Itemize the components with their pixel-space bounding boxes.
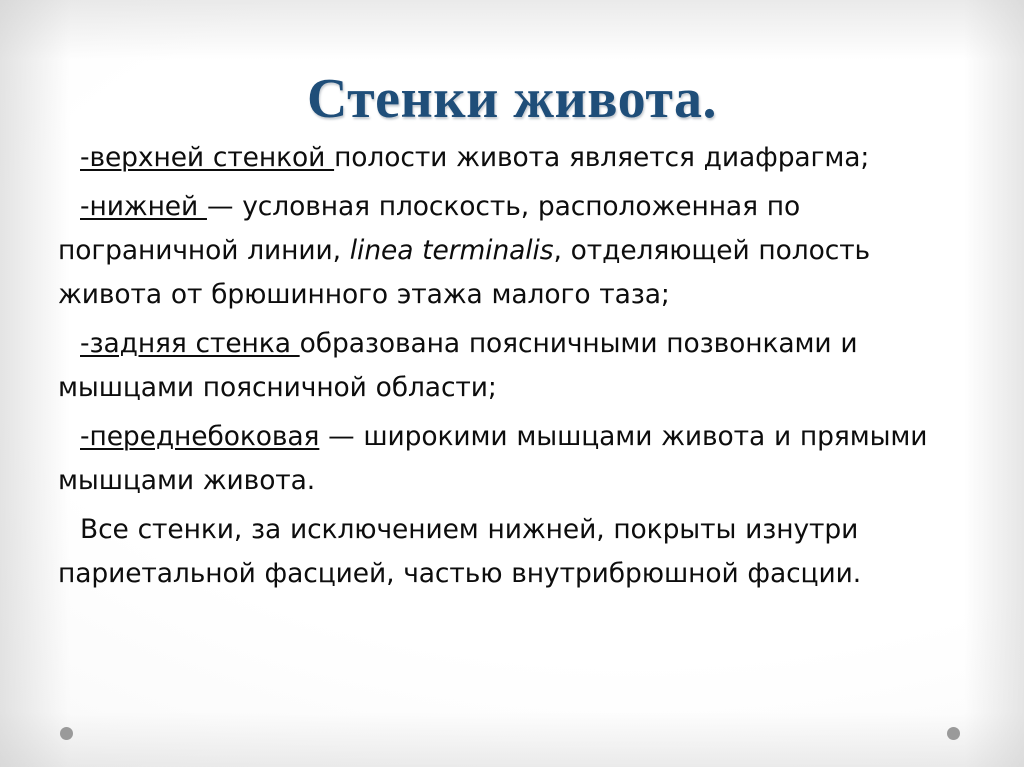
bullet-anterolateral-wall-emphasis: -переднебоковая [80, 421, 319, 452]
slide-canvas: Стенки живота. -верхней стенкой полости … [0, 0, 1024, 767]
slide-body: -верхней стенкой полости живота является… [58, 136, 978, 598]
bullet-lower-wall: -нижней — условная плоскость, расположен… [58, 185, 978, 317]
page-title: Стенки живота. [0, 68, 1024, 130]
bullet-upper-wall-text: полости живота является диафрагма; [334, 142, 869, 173]
bullet-posterior-wall-emphasis: -задняя стенка [80, 328, 300, 359]
bullet-upper-wall-emphasis: -верхней стенкой [80, 142, 334, 173]
bullet-upper-wall: -верхней стенкой полости живота является… [58, 136, 978, 180]
bullet-posterior-wall: -задняя стенка образована поясничными по… [58, 322, 978, 410]
bullet-lower-wall-emphasis: -нижней [80, 191, 207, 222]
decorative-dot-left-icon [60, 727, 73, 740]
decorative-dot-right-icon [947, 727, 960, 740]
bullet-anterolateral-wall: -переднебоковая — широкими мышцами живот… [58, 415, 978, 503]
latin-term-linea-terminalis: linea terminalis [350, 235, 554, 266]
summary-paragraph: Все стенки, за исключением нижней, покры… [58, 508, 978, 596]
